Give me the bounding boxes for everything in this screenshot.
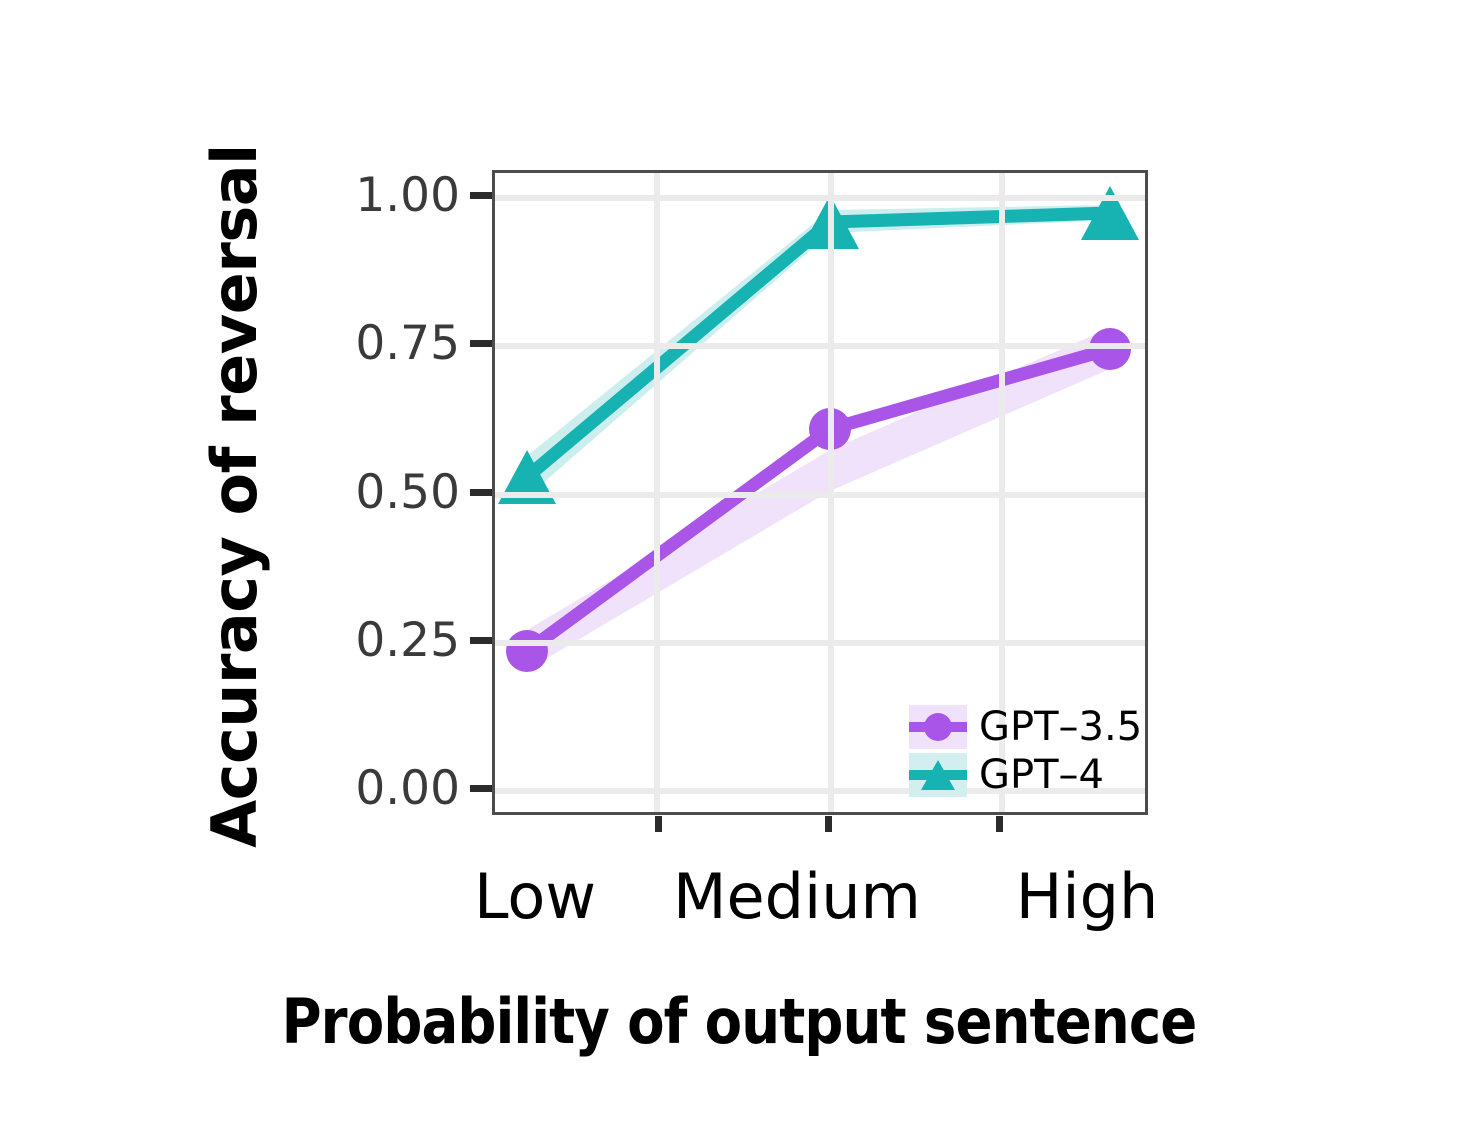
- legend-key-gpt35: [909, 705, 967, 749]
- x-tick-mark-1: [655, 816, 662, 832]
- y-tick-mark-0.75: [470, 340, 492, 347]
- y-tick-mark-0.00: [470, 785, 492, 792]
- gridline-y-0.25: [495, 640, 1145, 646]
- y-tick-mark-0.25: [470, 637, 492, 644]
- x-axis-title: Probability of output sentence: [89, 985, 1390, 1058]
- gridline-y-0.75: [495, 343, 1145, 349]
- x-tick-label-low: Low: [474, 860, 596, 933]
- y-tick-label-1.00: 1.00: [340, 172, 460, 219]
- legend-label-gpt35: GPT–3.5: [979, 707, 1142, 747]
- gridline-x-low-medium: [654, 173, 660, 812]
- gridline-y-0.50: [495, 492, 1145, 498]
- y-tick-label-0.75: 0.75: [340, 320, 460, 367]
- gridline-y-1.00: [495, 195, 1145, 201]
- chart-legend: GPT–3.5 GPT–4: [909, 704, 1145, 800]
- x-tick-label-medium: Medium: [673, 860, 921, 933]
- y-axis-tick-labels: 1.00 0.75 0.50 0.25 0.00: [340, 0, 460, 1128]
- gpt35-point-high: [1089, 328, 1131, 370]
- x-tick-mark-3: [996, 816, 1003, 832]
- x-tick-mark-2: [825, 816, 832, 832]
- legend-entry-gpt35[interactable]: GPT–3.5: [909, 704, 1145, 750]
- legend-label-gpt4: GPT–4: [979, 755, 1104, 795]
- triangle-icon: [921, 760, 955, 790]
- legend-key-gpt4: [909, 753, 967, 797]
- legend-entry-gpt4[interactable]: GPT–4: [909, 752, 1145, 798]
- y-axis-title: Accuracy of reversal: [196, 186, 272, 806]
- y-tick-label-0.50: 0.50: [340, 469, 460, 516]
- gridline-x-medium: [828, 173, 834, 812]
- y-tick-label-0.25: 0.25: [340, 617, 460, 664]
- y-tick-mark-0.50: [470, 489, 492, 496]
- chart-figure: Accuracy of reversal 1.00 0.75 0.50 0.25…: [0, 0, 1478, 1128]
- x-tick-label-high: High: [1016, 860, 1159, 933]
- y-tick-label-0.00: 0.00: [340, 765, 460, 812]
- y-tick-mark-1.00: [470, 192, 492, 199]
- circle-icon: [924, 713, 952, 741]
- gpt35-point-low: [506, 630, 548, 672]
- plot-panel: GPT–3.5 GPT–4: [492, 170, 1148, 815]
